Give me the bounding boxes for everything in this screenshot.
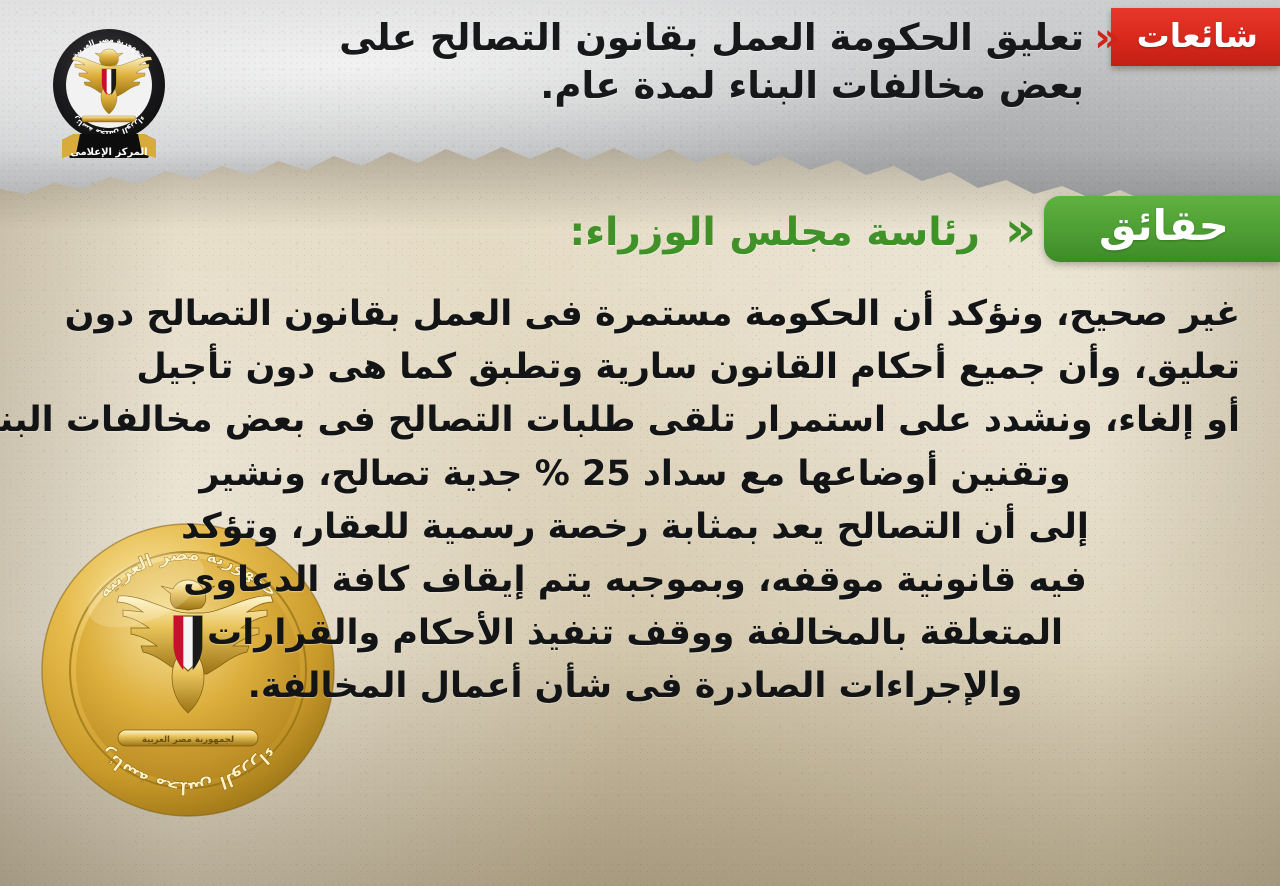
- body-line-5: إلى أن التصالح يعد بمثابة رخصة رسمية للع…: [30, 501, 1240, 554]
- body-line-4: وتقنين أوضاعها مع سداد 25 % جدية تصالح، …: [30, 448, 1240, 501]
- headline: تعليق الحكومة العمل بقانون التصالح على ب…: [168, 14, 1084, 110]
- body-line-3: أو إلغاء، ونشدد على استمرار تلقى طلبات ا…: [30, 394, 1240, 447]
- headline-line-2: بعض مخالفات البناء لمدة عام.: [168, 62, 1084, 110]
- medallion-shield-text: لجمهورية مصر العربية: [142, 735, 234, 745]
- facts-subtitle: رئاسة مجلس الوزراء:: [570, 210, 980, 257]
- seal-ribbon-text: المركز الإعلامى: [70, 147, 147, 158]
- facts-chevron-icon: «: [1005, 206, 1036, 254]
- facts-badge: حقائق: [1044, 196, 1280, 262]
- facts-badge-label: حقائق: [1099, 205, 1229, 247]
- headline-line-1: تعليق الحكومة العمل بقانون التصالح على: [339, 16, 1084, 59]
- body-line-1: غير صحيح، ونؤكد أن الحكومة مستمرة فى الع…: [30, 288, 1240, 341]
- body-line-2: تعليق، وأن جميع أحكام القانون سارية وتطب…: [30, 341, 1240, 394]
- rumor-badge-label: شائعات: [1137, 19, 1258, 52]
- facts-body-paragraph: غير صحيح، ونؤكد أن الحكومة مستمرة فى الع…: [30, 288, 1240, 714]
- rumor-badge: شائعات: [1111, 8, 1280, 66]
- rumor-chevron-icon: «: [1094, 18, 1120, 58]
- cabinet-media-center-seal-icon: جمهورية مصر العربية رئاسة مجلس الوزراء ا…: [46, 22, 172, 170]
- body-line-7: المتعلقة بالمخالفة ووقف تنفيذ الأحكام وا…: [30, 607, 1240, 660]
- body-line-6: فيه قانونية موقفه، وبموجبه يتم إيقاف كاف…: [30, 554, 1240, 607]
- infographic-page: جمهورية مصر العربية رئاسة مجلس الوزراء ا…: [0, 0, 1280, 886]
- body-line-8: والإجراءات الصادرة فى شأن أعمال المخالفة…: [30, 660, 1240, 713]
